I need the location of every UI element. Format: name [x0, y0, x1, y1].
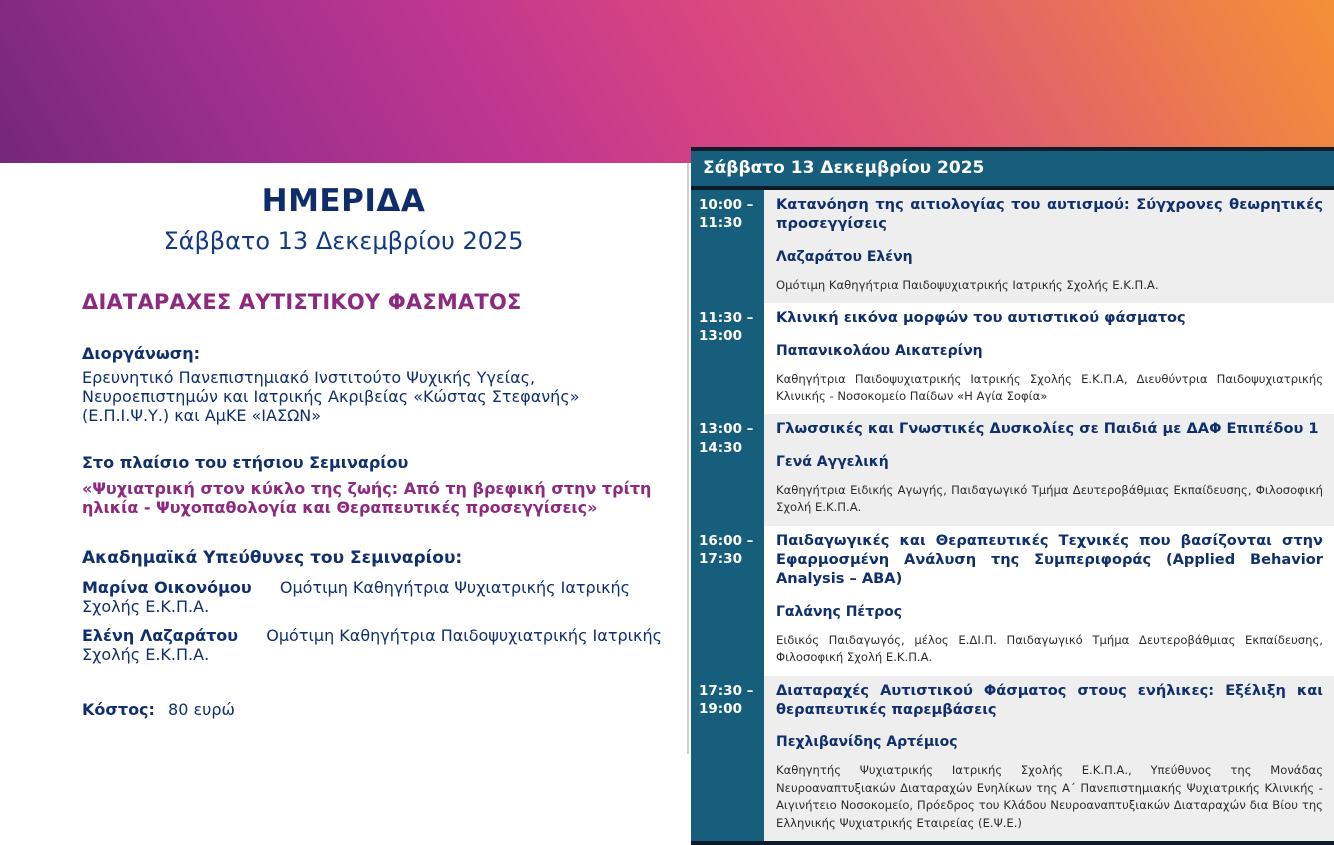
session-time: 17:30 – 19:00 — [691, 676, 764, 841]
session-time: 13:00 – 14:30 — [691, 414, 764, 525]
session-title: Κλινική εικόνα μορφών του αυτιστικού φάσ… — [776, 308, 1323, 327]
session-speaker: Γενά Αγγελική — [776, 454, 1323, 470]
cost-value: 80 ευρώ — [160, 700, 235, 719]
table-row: 16:00 – 17:30 Παιδαγωγικές και Θεραπευτι… — [691, 526, 1334, 676]
flyer-panel: ΗΜΕΡΙΔΑ Σάββατο 13 Δεκεμβρίου 2025 ΔΙΑΤΑ… — [0, 163, 689, 754]
table-row: 11:30 – 13:00 Κλινική εικόνα μορφών του … — [691, 303, 1334, 414]
session-title: Διαταραχές Αυτιστικού Φάσματος στους ενή… — [776, 681, 1323, 720]
person-name: Μαρίνα Οικονόμου — [82, 578, 252, 597]
organizer-text: Ερευνητικό Πανεπιστημιακό Ινστιτούτο Ψυχ… — [82, 369, 665, 426]
seminar-title: «Ψυχιατρική στον κύκλο της ζωής: Από τη … — [82, 479, 665, 518]
session-time: 11:30 – 13:00 — [691, 303, 764, 414]
session-time: 16:00 – 17:30 — [691, 526, 764, 676]
session-title: Παιδαγωγικές και Θεραπευτικές Τεχνικές π… — [776, 531, 1323, 589]
table-row: 13:00 – 14:30 Γλωσσικές και Γνωστικές Δυ… — [691, 414, 1334, 525]
table-row: 10:00 – 11:30 Κατανόηση της αιτιολογίας … — [691, 190, 1334, 303]
organizer-label: Διοργάνωση: — [82, 344, 665, 363]
gradient-banner — [0, 0, 1334, 163]
page-subtitle: Σάββατο 13 Δεκεμβρίου 2025 — [82, 227, 665, 255]
cost-label: Κόστος: — [82, 700, 155, 719]
session-cell: Κλινική εικόνα μορφών του αυτιστικού φάσ… — [764, 303, 1334, 414]
schedule-header: Σάββατο 13 Δεκεμβρίου 2025 — [691, 151, 1334, 190]
session-speaker: Πεχλιβανίδης Αρτέμιος — [776, 734, 1323, 750]
session-speaker: Γαλάνης Πέτρος — [776, 604, 1323, 620]
table-row: 17:30 – 19:00 Διαταραχές Αυτιστικού Φάσμ… — [691, 676, 1334, 841]
session-speaker: Λαζαράτου Ελένη — [776, 249, 1323, 265]
schedule-table: 10:00 – 11:30 Κατανόηση της αιτιολογίας … — [691, 190, 1334, 841]
context-label: Στο πλαίσιο του ετήσιου Σεμιναρίου — [82, 453, 665, 472]
session-title: Κατανόηση της αιτιολογίας του αυτισμού: … — [776, 195, 1323, 234]
responsible-person: Μαρίνα Οικονόμου Ομότιμη Καθηγήτρια Ψυχι… — [82, 578, 665, 616]
schedule-bottom-rule — [691, 841, 1334, 845]
schedule-panel: Σάββατο 13 Δεκεμβρίου 2025 10:00 – 11:30… — [691, 147, 1334, 845]
responsible-person: Ελένη Λαζαράτου Ομότιμη Καθηγήτρια Παιδο… — [82, 626, 665, 664]
session-affiliation: Ομότιμη Καθηγήτρια Παιδοψυχιατρικής Ιατρ… — [776, 277, 1323, 294]
session-time: 10:00 – 11:30 — [691, 190, 764, 303]
session-affiliation: Ειδικός Παιδαγωγός, μέλος Ε.ΔΙ.Π. Παιδαγ… — [776, 632, 1323, 667]
cost-row: Κόστος: 80 ευρώ — [82, 700, 665, 719]
session-title: Γλωσσικές και Γνωστικές Δυσκολίες σε Παι… — [776, 419, 1323, 438]
session-cell: Διαταραχές Αυτιστικού Φάσματος στους ενή… — [764, 676, 1334, 841]
responsible-heading: Ακαδημαϊκά Υπεύθυνες του Σεμιναρίου: — [82, 548, 665, 568]
session-cell: Παιδαγωγικές και Θεραπευτικές Τεχνικές π… — [764, 526, 1334, 676]
page-title: ΗΜΕΡΙΔΑ — [82, 183, 665, 219]
session-cell: Κατανόηση της αιτιολογίας του αυτισμού: … — [764, 190, 1334, 303]
session-affiliation: Καθηγητής Ψυχιατρικής Ιατρικής Σχολής Ε.… — [776, 762, 1323, 832]
session-affiliation: Καθηγήτρια Ειδικής Αγωγής, Παιδαγωγικό Τ… — [776, 482, 1323, 517]
session-cell: Γλωσσικές και Γνωστικές Δυσκολίες σε Παι… — [764, 414, 1334, 525]
session-speaker: Παπανικολάου Αικατερίνη — [776, 343, 1323, 359]
session-affiliation: Καθηγήτρια Παιδοψυχιατρικής Ιατρικής Σχο… — [776, 371, 1323, 406]
topic-heading: ΔΙΑΤΑΡΑΧΕΣ ΑΥΤΙΣΤΙΚΟΥ ΦΑΣΜΑΤΟΣ — [82, 290, 665, 314]
person-name: Ελένη Λαζαράτου — [82, 626, 238, 645]
